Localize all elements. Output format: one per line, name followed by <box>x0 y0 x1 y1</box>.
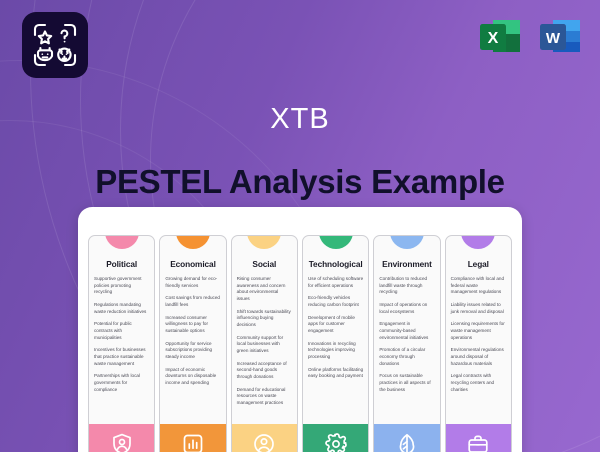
leaf-icon <box>395 432 419 452</box>
column-point: Innovations in recycling technologies im… <box>308 341 363 361</box>
column-point: Increased consumer willingness to pay fo… <box>165 315 220 335</box>
column-point: Use of scheduling software for efficient… <box>308 276 363 289</box>
column-point: Licensing requirements for waste managem… <box>451 321 506 341</box>
column-footer <box>446 424 511 452</box>
pestel-slide: X W XTB PESTEL Analysis Example PPolitic… <box>0 0 600 452</box>
column-point: Liability issues related to junk removal… <box>451 302 506 315</box>
column-letter-badge: S <box>247 235 281 249</box>
pestel-column-political[interactable]: PPoliticalSupportive government policies… <box>88 235 155 452</box>
column-title: Economical <box>160 259 225 276</box>
column-point: Promotion of a circular economy through … <box>379 347 434 367</box>
column-title: Political <box>89 259 154 276</box>
column-letter-badge: E <box>390 235 424 249</box>
pet-scan-logo-icon <box>31 21 79 69</box>
excel-icon[interactable]: X <box>478 14 522 58</box>
column-point: Shift towards sustainability influencing… <box>237 309 292 329</box>
column-point: Legal contracts with recycling centers a… <box>451 373 506 393</box>
gear-icon <box>324 432 348 452</box>
column-points: Supportive government policies promoting… <box>89 276 154 424</box>
column-point: Focus on sustainable practices in all as… <box>379 373 434 393</box>
column-point: Eco-friendly vehicles reducing carbon fo… <box>308 295 363 308</box>
column-title: Technological <box>303 259 368 276</box>
column-point: Regulations mandating waste reduction in… <box>94 302 149 315</box>
column-footer <box>374 424 439 452</box>
column-footer <box>89 424 154 452</box>
column-footer <box>160 424 225 452</box>
column-title: Legal <box>446 259 511 276</box>
column-letter-badge: E <box>176 235 210 249</box>
pestel-column-economical[interactable]: EEconomicalGrowing demand for eco-friend… <box>159 235 226 452</box>
office-app-icons: X W <box>478 14 582 58</box>
shield-person-icon <box>110 432 134 452</box>
column-point: Cost savings from reduced landfill fees <box>165 295 220 308</box>
column-letter-badge: P <box>105 235 139 249</box>
pestel-column-social[interactable]: SSocialRising consumer awareness and con… <box>231 235 298 452</box>
brand-name: XTB <box>0 103 600 136</box>
column-point: Opportunity for service subscriptions pr… <box>165 341 220 361</box>
column-point: Increased acceptance of second-hand good… <box>237 361 292 381</box>
app-logo[interactable] <box>22 12 88 78</box>
column-point: Engagement in community-based environmen… <box>379 321 434 341</box>
word-icon[interactable]: W <box>538 14 582 58</box>
column-point: Environmental regulations around disposa… <box>451 347 506 367</box>
bar-chart-icon <box>181 432 205 452</box>
pestel-column-technological[interactable]: TTechnologicalUse of scheduling software… <box>302 235 369 452</box>
column-point: Contribution to reduced landfill waste t… <box>379 276 434 296</box>
column-points: Growing demand for eco-friendly services… <box>160 276 225 424</box>
briefcase-icon <box>466 432 490 452</box>
column-point: Online platforms facilitating easy booki… <box>308 367 363 380</box>
column-point: Development of mobile apps for customer … <box>308 315 363 335</box>
column-title: Environment <box>374 259 439 276</box>
pestel-columns: PPoliticalSupportive government policies… <box>88 235 512 452</box>
column-points: Contribution to reduced landfill waste t… <box>374 276 439 424</box>
column-footer <box>232 424 297 452</box>
column-point: Partnerships with local governments for … <box>94 373 149 393</box>
column-point: Incentives for businesses that practice … <box>94 347 149 367</box>
column-point: Community support for local businesses w… <box>237 335 292 355</box>
column-point: Impact of economic downturns on disposab… <box>165 367 220 387</box>
column-points: Rising consumer awareness and concern ab… <box>232 276 297 424</box>
pestel-column-legal[interactable]: LLegalCompliance with local and federal … <box>445 235 512 452</box>
person-circle-icon <box>252 432 276 452</box>
column-point: Impact of operations on local ecosystems <box>379 302 434 315</box>
column-points: Compliance with local and federal waste … <box>446 276 511 424</box>
svg-text:W: W <box>546 30 561 47</box>
column-points: Use of scheduling software for efficient… <box>303 276 368 424</box>
page-title: PESTEL Analysis Example <box>0 163 600 201</box>
column-footer <box>303 424 368 452</box>
pestel-column-environment[interactable]: EEnvironmentContribution to reduced land… <box>373 235 440 452</box>
column-point: Rising consumer awareness and concern ab… <box>237 276 292 303</box>
pestel-card: PPoliticalSupportive government policies… <box>78 207 522 452</box>
column-point: Potential for public contracts with muni… <box>94 321 149 341</box>
column-letter-badge: L <box>461 235 495 249</box>
column-letter-badge: T <box>319 235 353 249</box>
column-point: Growing demand for eco-friendly services <box>165 276 220 289</box>
svg-text:X: X <box>488 30 499 47</box>
column-title: Social <box>232 259 297 276</box>
column-point: Compliance with local and federal waste … <box>451 276 506 296</box>
column-point: Supportive government policies promoting… <box>94 276 149 296</box>
column-point: Demand for educational resources on wast… <box>237 387 292 407</box>
